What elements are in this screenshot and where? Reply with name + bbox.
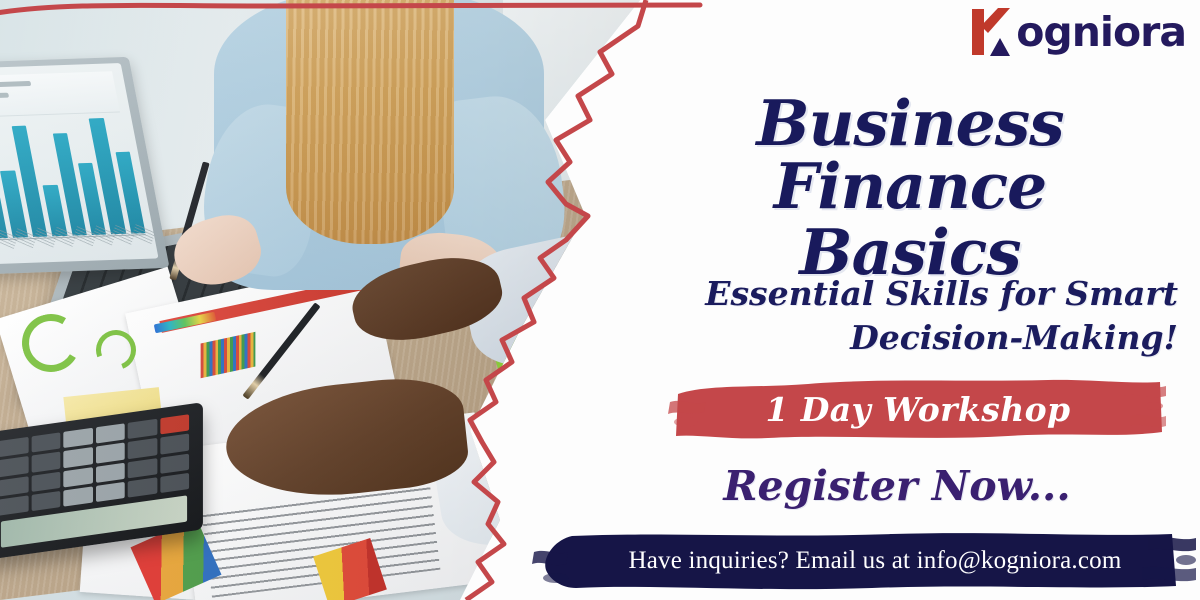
calculator-key bbox=[31, 491, 60, 512]
calculator-key bbox=[160, 414, 189, 435]
brand-logo-text: ogniora bbox=[1016, 12, 1186, 53]
chart-header bbox=[0, 71, 120, 117]
calculator-key bbox=[128, 419, 157, 440]
chart-header-line bbox=[0, 93, 9, 99]
workshop-badge-label: 1 Day Workshop bbox=[668, 372, 1168, 446]
hero-title: Business Finance Basics bbox=[620, 92, 1200, 286]
chart-bar-group bbox=[0, 117, 146, 238]
footer-inquiry-text: Have inquiries? Email us at info@kognior… bbox=[532, 530, 1200, 592]
woman-hair-strands bbox=[286, 0, 454, 244]
calculator-key bbox=[31, 452, 60, 473]
calculator-key bbox=[95, 462, 124, 483]
footer-banner: Have inquiries? Email us at info@kognior… bbox=[532, 530, 1200, 592]
hero-title-line1: Business Finance bbox=[620, 92, 1200, 218]
chart-tick-label bbox=[131, 223, 155, 244]
workshop-badge: 1 Day Workshop bbox=[668, 372, 1168, 446]
calculator-key bbox=[63, 486, 92, 507]
calculator-key bbox=[0, 476, 28, 497]
k-monogram-icon bbox=[968, 6, 1014, 58]
calculator-key bbox=[31, 471, 60, 492]
calculator-key bbox=[31, 432, 60, 453]
calculator-key bbox=[128, 438, 157, 459]
calculator-key bbox=[128, 458, 157, 479]
register-cta[interactable]: Register Now... bbox=[620, 462, 1200, 510]
calculator-key bbox=[0, 495, 28, 516]
calculator-key bbox=[0, 437, 28, 458]
hero-subtitle-line1: Essential Skills for Smart bbox=[620, 272, 1178, 316]
calculator-key bbox=[0, 456, 28, 477]
photo-image bbox=[0, 0, 640, 600]
calculator-key bbox=[63, 447, 92, 468]
content-pane: ogniora Business Finance Basics Essentia… bbox=[620, 0, 1200, 600]
chart-label-group bbox=[0, 235, 150, 262]
calculator-key bbox=[63, 428, 92, 449]
calculator-key bbox=[160, 473, 189, 494]
calculator-key bbox=[95, 443, 124, 464]
hero-subtitle-line2: Decision-Making! bbox=[620, 316, 1178, 360]
brand-logo[interactable]: ogniora bbox=[968, 6, 1186, 58]
hero-subtitle: Essential Skills for Smart Decision-Maki… bbox=[620, 272, 1200, 359]
laptop-chart bbox=[0, 63, 159, 264]
calculator-key bbox=[95, 482, 124, 503]
hero-photo bbox=[0, 0, 640, 600]
calculator-key bbox=[160, 434, 189, 455]
calculator-key bbox=[63, 467, 92, 488]
chart-header-line bbox=[0, 81, 31, 88]
event-banner: ogniora Business Finance Basics Essentia… bbox=[0, 0, 1200, 600]
calculator-key bbox=[160, 453, 189, 474]
calculator-key bbox=[95, 423, 124, 444]
calculator-key bbox=[128, 477, 157, 498]
